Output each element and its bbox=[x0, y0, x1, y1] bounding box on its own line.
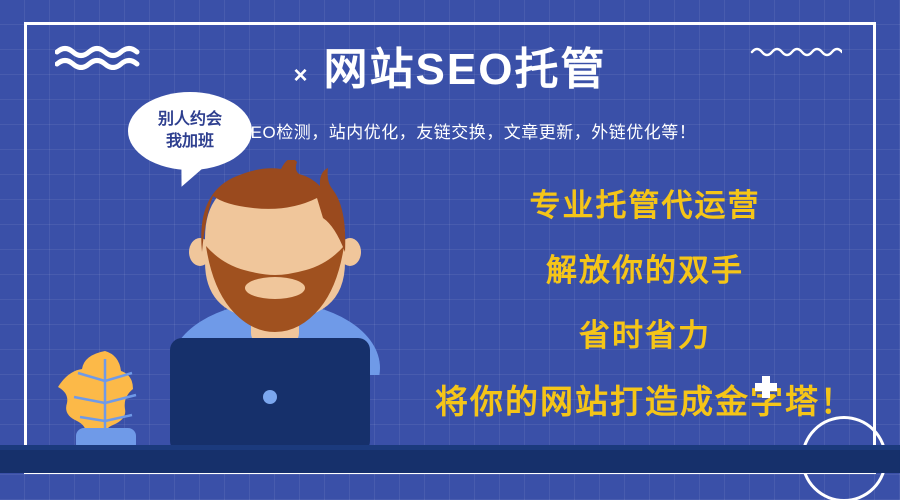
laptop-logo-dot bbox=[263, 390, 277, 404]
slogan-line-2: 解放你的双手 bbox=[546, 255, 744, 286]
close-icon: × bbox=[294, 64, 308, 88]
slogan-list: 专业托管代运营 解放你的双手 省时省力 将你的网站打造成金字塔！ bbox=[430, 190, 860, 418]
speech-bubble: 别人约会 我加班 bbox=[128, 92, 252, 170]
potted-plant-icon bbox=[58, 345, 153, 452]
speech-bubble-line-1: 别人约会 bbox=[158, 109, 222, 131]
slogan-line-1: 专业托管代运营 bbox=[530, 190, 761, 221]
laptop-icon bbox=[170, 338, 370, 453]
poster-canvas: × 网站SEO托管 含：SEO检测，站内优化，友链交换，文章更新，外链优化等！ … bbox=[0, 0, 900, 500]
slogan-line-3: 省时省力 bbox=[579, 320, 711, 351]
title-row: × 网站SEO托管 bbox=[0, 48, 900, 92]
desk-surface bbox=[0, 450, 900, 473]
speech-bubble-line-2: 我加班 bbox=[166, 131, 214, 153]
page-title: 网站SEO托管 bbox=[324, 48, 607, 92]
plus-icon bbox=[755, 376, 777, 398]
slogan-line-4: 将你的网站打造成金字塔！ bbox=[435, 385, 855, 418]
